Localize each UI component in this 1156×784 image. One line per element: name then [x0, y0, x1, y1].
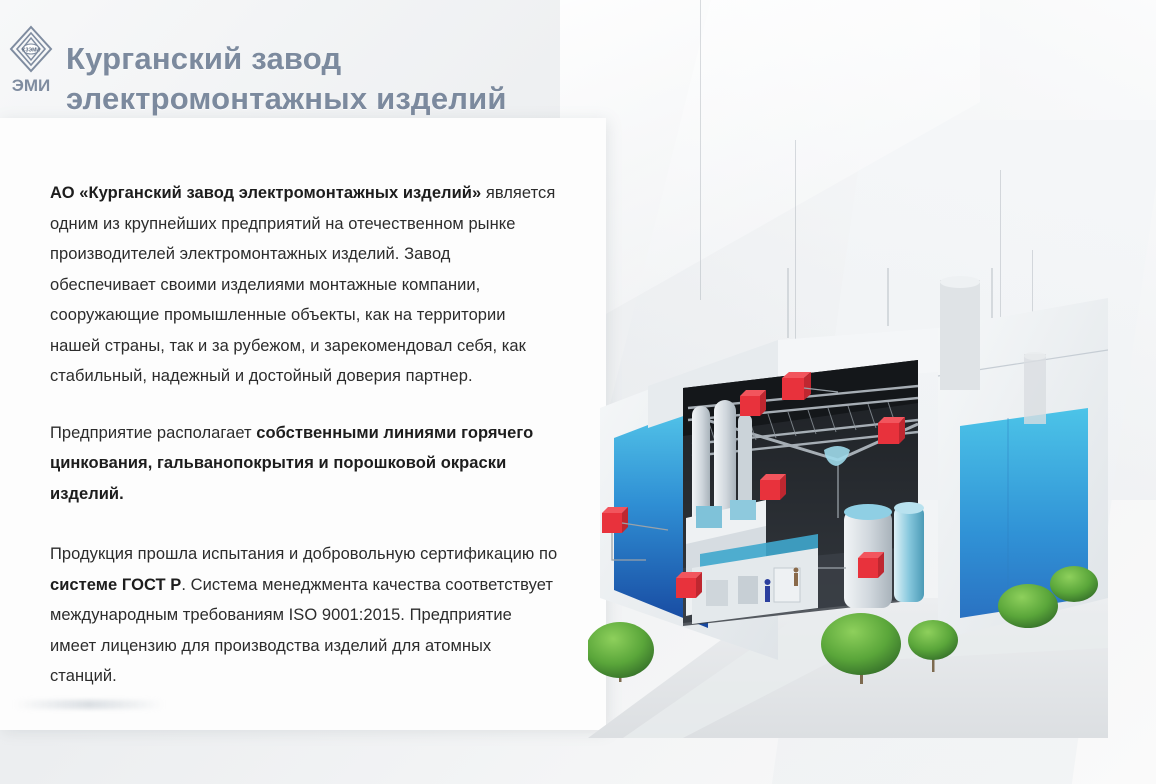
illustration-worker-figure [765, 579, 771, 602]
illustration-tree [588, 622, 654, 682]
svg-text:КЗЭМИ: КЗЭМИ [22, 48, 40, 54]
company-intro-rest: является одним из крупнейших предприятий… [50, 184, 555, 385]
paragraph-company-intro: АО «Курганский завод электромонтажных из… [50, 178, 560, 392]
gost-standard-bold: системе ГОСТ Р [50, 576, 181, 594]
marker-cube [740, 390, 766, 416]
marker-cube [782, 372, 811, 400]
company-name-bold: АО «Курганский завод электромонтажных из… [50, 184, 481, 202]
slide-canvas: КЗЭМИ ЭМИ Курганский завод электромонтаж… [0, 0, 1156, 784]
illustration-tree [998, 584, 1058, 628]
content-card: АО «Курганский завод электромонтажных из… [0, 118, 606, 730]
svg-text:ЭМИ: ЭМИ [12, 76, 50, 95]
page-title-line-2: электромонтажных изделий [66, 79, 666, 119]
page-title: Курганский завод электромонтажных издели… [66, 39, 666, 119]
marker-cube [878, 417, 905, 444]
certification-start: Продукция прошла испытания и добровольну… [50, 545, 557, 563]
illustration-tree [1050, 566, 1098, 602]
production-lines-start: Предприятие располагает [50, 424, 256, 442]
industrial-plant-cutaway-illustration [588, 268, 1108, 738]
content-card-body: АО «Курганский завод электромонтажных из… [0, 118, 606, 692]
paragraph-production-lines: Предприятие располагает собственными лин… [50, 418, 560, 510]
kzemi-diamond-logo-icon: КЗЭМИ ЭМИ [6, 24, 56, 96]
marker-cube [760, 474, 786, 500]
marker-cube [676, 572, 702, 598]
header: КЗЭМИ ЭМИ Курганский завод электромонтаж… [0, 0, 1156, 120]
paragraph-certification: Продукция прошла испытания и добровольну… [50, 539, 560, 692]
page-title-line-1: Курганский завод [66, 39, 666, 79]
marker-cube [602, 507, 628, 533]
illustration-worker-figure [794, 568, 799, 587]
content-card-bottom-edge [14, 700, 164, 709]
marker-cube [858, 552, 884, 578]
